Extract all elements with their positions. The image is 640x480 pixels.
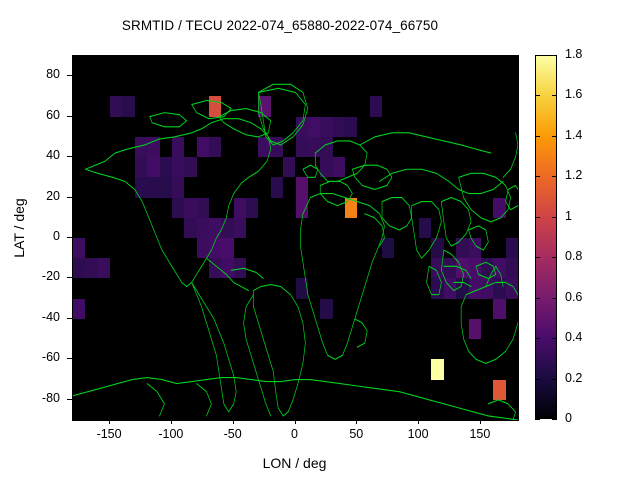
colorbar-tick-label: 0.6 (565, 290, 582, 304)
y-tick-mark (67, 116, 72, 117)
colorbar-tick-label: 0.2 (565, 371, 582, 385)
x-tick-mark (480, 419, 481, 424)
x-tick-mark (418, 419, 419, 424)
colorbar-tick-label: 0.4 (565, 330, 582, 344)
x-tick-mark (356, 419, 357, 424)
colorbar-tick-mark (552, 419, 557, 420)
colorbar-tick-label: 1.6 (565, 87, 582, 101)
y-tick-label: 80 (20, 67, 60, 81)
coastline-layer (73, 56, 518, 420)
colorbar-tick-mark (552, 217, 557, 218)
y-tick-mark (67, 156, 72, 157)
y-axis-title: LAT / deg (11, 128, 27, 328)
figure-canvas: SRMTID / TECU 2022-074_65880-2022-074_66… (0, 0, 640, 480)
y-tick-mark (67, 197, 72, 198)
colorbar-tick-mark (535, 257, 540, 258)
map-plot-area (72, 55, 519, 421)
colorbar-tick-label: 1.2 (565, 168, 582, 182)
colorbar-tick-mark (552, 338, 557, 339)
colorbar-tick-label: 1.4 (565, 128, 582, 142)
colorbar-tick-mark (552, 257, 557, 258)
y-tick-mark (67, 237, 72, 238)
colorbar-tick-mark (552, 136, 557, 137)
x-tick-label: -150 (79, 427, 139, 441)
colorbar-tick-label: 1 (565, 209, 572, 223)
y-tick-label: -80 (20, 391, 60, 405)
y-tick-mark (67, 277, 72, 278)
x-tick-label: 150 (450, 427, 510, 441)
x-tick-mark (109, 419, 110, 424)
colorbar-tick-mark (535, 136, 540, 137)
colorbar-tick-label: 1.8 (565, 47, 582, 61)
y-tick-mark (67, 318, 72, 319)
colorbar (535, 55, 557, 419)
colorbar-tick-mark (552, 379, 557, 380)
y-tick-mark (67, 75, 72, 76)
chart-title: SRMTID / TECU 2022-074_65880-2022-074_66… (0, 18, 560, 33)
y-tick-label: -60 (20, 350, 60, 364)
y-tick-label: 60 (20, 108, 60, 122)
x-tick-label: 0 (265, 427, 325, 441)
x-tick-label: 50 (326, 427, 386, 441)
colorbar-tick-label: 0 (565, 411, 572, 425)
x-tick-label: -100 (141, 427, 201, 441)
x-tick-label: -50 (203, 427, 263, 441)
y-tick-mark (67, 358, 72, 359)
x-tick-mark (295, 419, 296, 424)
colorbar-tick-mark (535, 419, 540, 420)
x-tick-mark (171, 419, 172, 424)
colorbar-tick-mark (535, 217, 540, 218)
colorbar-tick-mark (535, 55, 540, 56)
colorbar-tick-mark (535, 338, 540, 339)
colorbar-tick-mark (535, 176, 540, 177)
y-tick-mark (67, 399, 72, 400)
colorbar-tick-mark (552, 176, 557, 177)
colorbar-tick-mark (552, 298, 557, 299)
colorbar-tick-mark (535, 298, 540, 299)
colorbar-tick-mark (552, 55, 557, 56)
colorbar-tick-label: 0.8 (565, 249, 582, 263)
colorbar-tick-mark (552, 95, 557, 96)
colorbar-tick-mark (535, 95, 540, 96)
x-tick-mark (233, 419, 234, 424)
x-tick-label: 100 (388, 427, 448, 441)
x-axis-title: LON / deg (72, 455, 517, 471)
colorbar-tick-mark (535, 379, 540, 380)
